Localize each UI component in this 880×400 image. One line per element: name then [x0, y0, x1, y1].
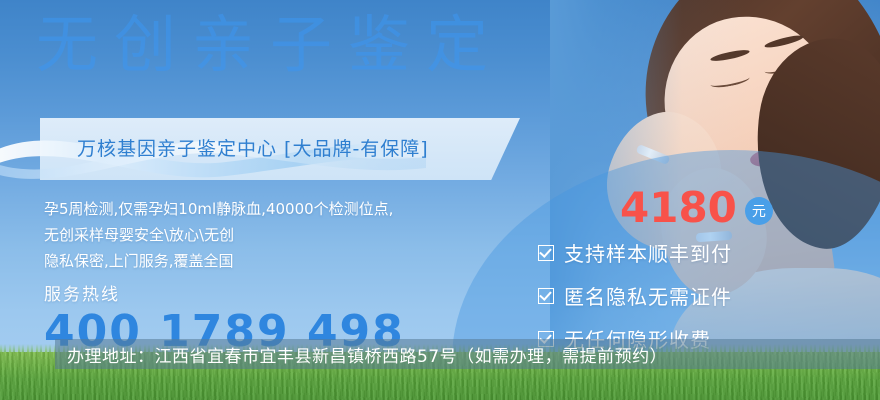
hotline-label: 服务热线 — [44, 280, 120, 305]
company-ribbon-banner: 万核基因亲子鉴定中心 [大品牌-有保障] — [40, 118, 520, 180]
address-text: 办理地址：江西省宜春市宜丰县新昌镇桥西路57号（如需办理，需提前预约） — [55, 342, 667, 367]
check-icon — [538, 245, 554, 261]
checklist-label: 匿名隐私无需证件 — [564, 281, 732, 310]
price-amount: 4180 — [620, 188, 737, 228]
feature-line: 无创采样母婴安全\放心\无创 — [44, 222, 514, 248]
list-item: 支持样本顺丰到付 — [538, 238, 732, 267]
checklist-label: 支持样本顺丰到付 — [564, 238, 732, 267]
feature-line: 孕5周检测,仅需孕妇10ml静脉血,40000个检测位点, — [44, 196, 514, 222]
list-item: 匿名隐私无需证件 — [538, 281, 732, 310]
price-currency-badge: 元 — [745, 197, 773, 225]
address-bar: 办理地址：江西省宜春市宜丰县新昌镇桥西路57号（如需办理，需提前预约） — [55, 339, 880, 369]
price-block: 4180 元 — [620, 188, 773, 228]
check-icon — [538, 288, 554, 304]
feature-list: 孕5周检测,仅需孕妇10ml静脉血,40000个检测位点, 无创采样母婴安全\放… — [44, 196, 514, 274]
company-name-label: 万核基因亲子鉴定中心 [大品牌-有保障] — [77, 134, 429, 161]
page-title: 无创亲子鉴定 — [36, 14, 504, 76]
advertisement-banner: 无创亲子鉴定 万核基因亲子鉴定中心 [大品牌-有保障] — [0, 0, 880, 400]
feature-line: 隐私保密,上门服务,覆盖全国 — [44, 248, 514, 274]
